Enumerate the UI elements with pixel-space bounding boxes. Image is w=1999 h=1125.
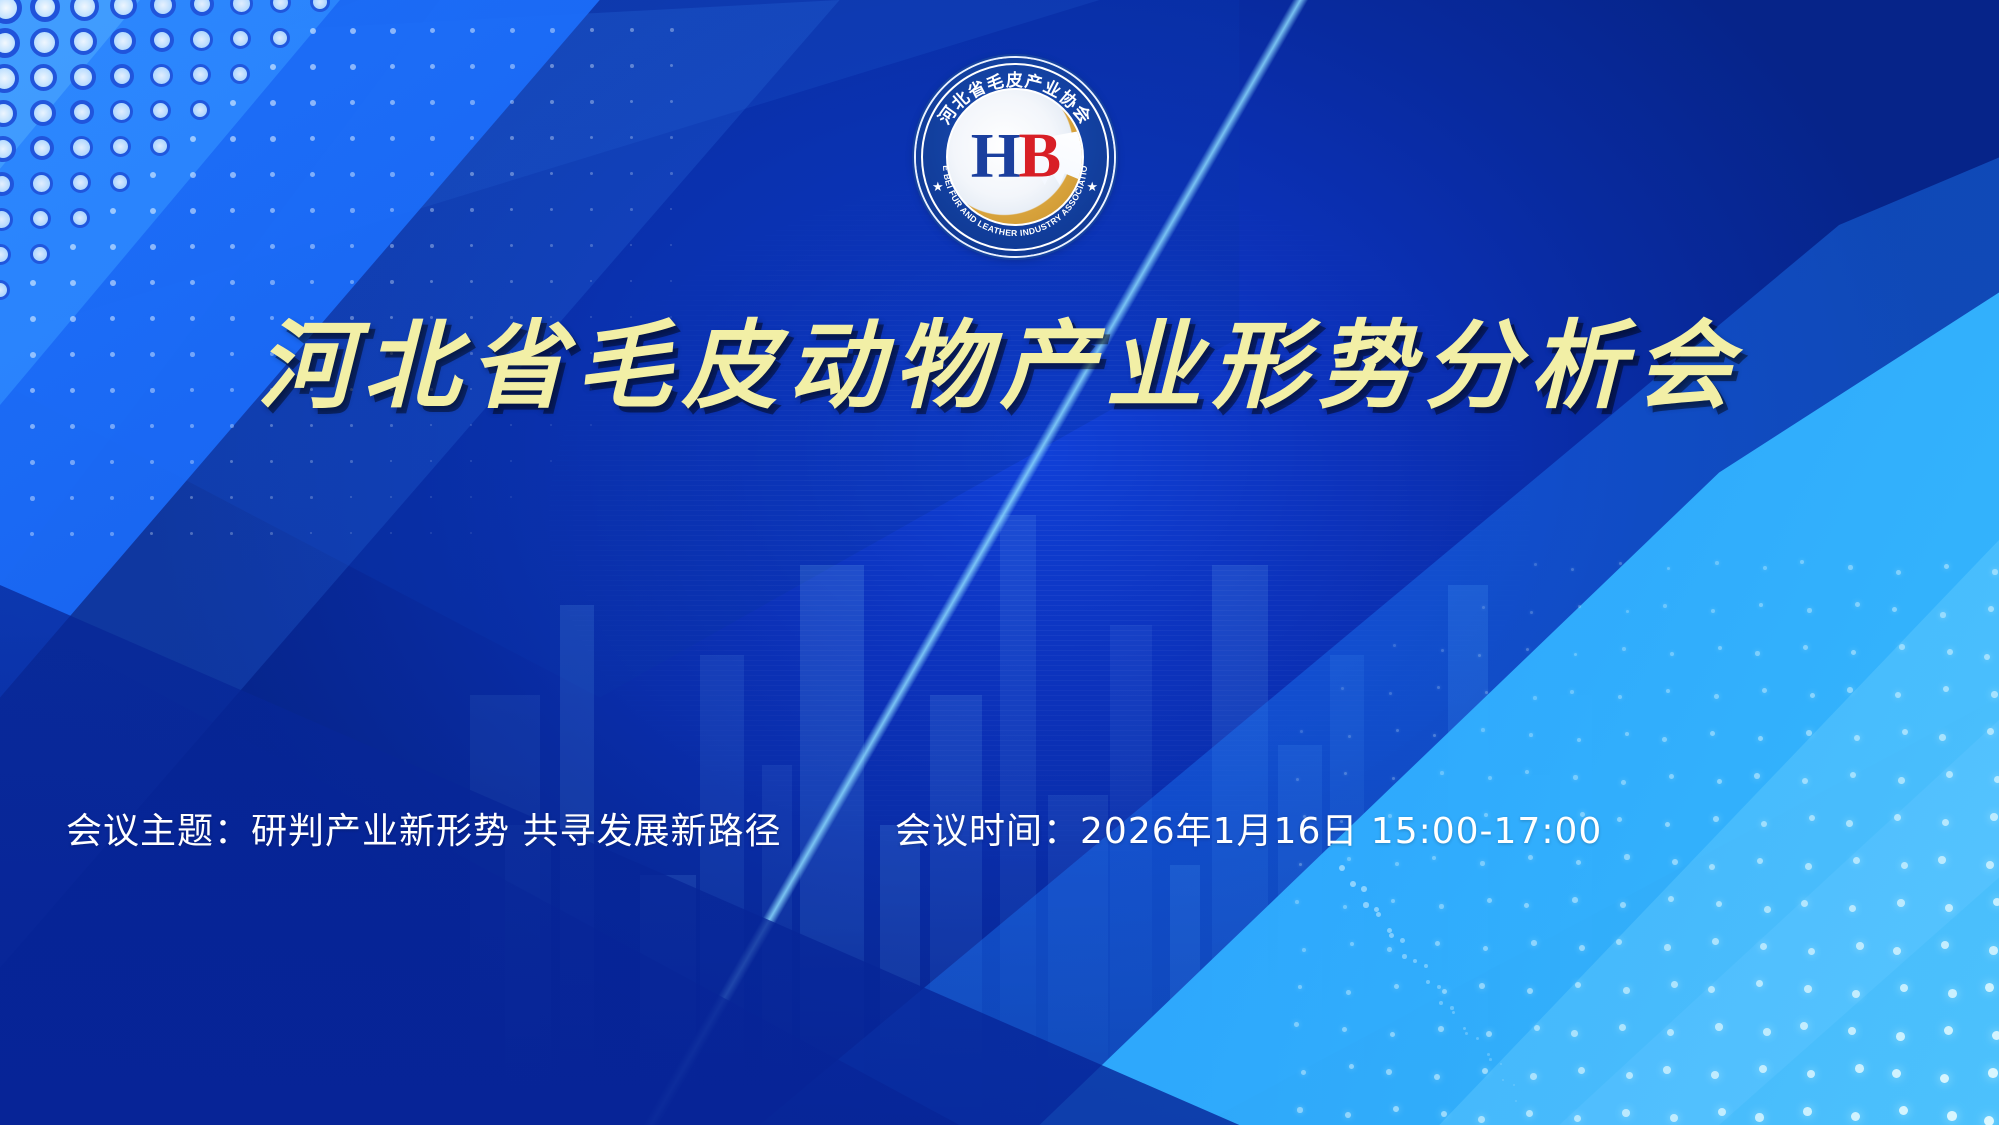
meeting-time-value: 2026年1月16日 15:00-17:00 <box>1080 811 1602 852</box>
meeting-topic-value: 研判产业新形势 共寻发展新路径 <box>251 811 781 852</box>
conference-banner: 河北省毛皮产业协会 HE BEI FUR AND LEATHER INDUSTR… <box>0 0 1999 1125</box>
meeting-time-label: 会议时间： <box>895 811 1080 852</box>
logo-star-left-icon: ★ <box>932 180 944 193</box>
svg-text:河北省毛皮产业协会: 河北省毛皮产业协会 <box>935 70 1096 128</box>
page-title: 河北省毛皮动物产业形势分析会 <box>0 288 1999 427</box>
logo-star-right-icon: ★ <box>1086 180 1098 193</box>
background-dot-field-top-left <box>0 0 760 560</box>
association-logo: 河北省毛皮产业协会 HE BEI FUR AND LEATHER INDUSTR… <box>916 58 1114 256</box>
meeting-topic-label: 会议主题： <box>66 811 251 852</box>
meeting-time: 会议时间：2026年1月16日 15:00-17:00 <box>895 802 1602 854</box>
logo-chinese-name: 河北省毛皮产业协会 <box>935 70 1096 128</box>
meeting-topic: 会议主题：研判产业新形势 共寻发展新路径 <box>66 802 781 854</box>
logo-curved-text: 河北省毛皮产业协会 HE BEI FUR AND LEATHER INDUSTR… <box>916 58 1114 256</box>
background-bottom-sweep-2 <box>0 608 1999 1125</box>
